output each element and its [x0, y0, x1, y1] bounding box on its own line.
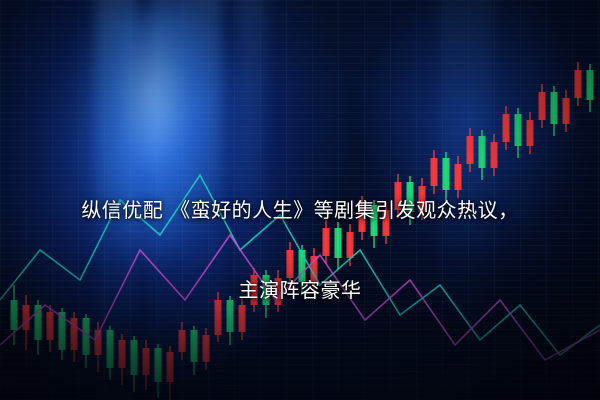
- headline-line-1: 纵信优配 《蛮好的人生》等剧集引发观众热议，: [81, 198, 518, 222]
- headline-line-2: 主演阵容豪华: [239, 278, 362, 302]
- overlay-headline: 纵信优配 《蛮好的人生》等剧集引发观众热议， 主演阵容豪华: [0, 150, 600, 310]
- image-canvas: 纵信优配 《蛮好的人生》等剧集引发观众热议， 主演阵容豪华: [0, 0, 600, 400]
